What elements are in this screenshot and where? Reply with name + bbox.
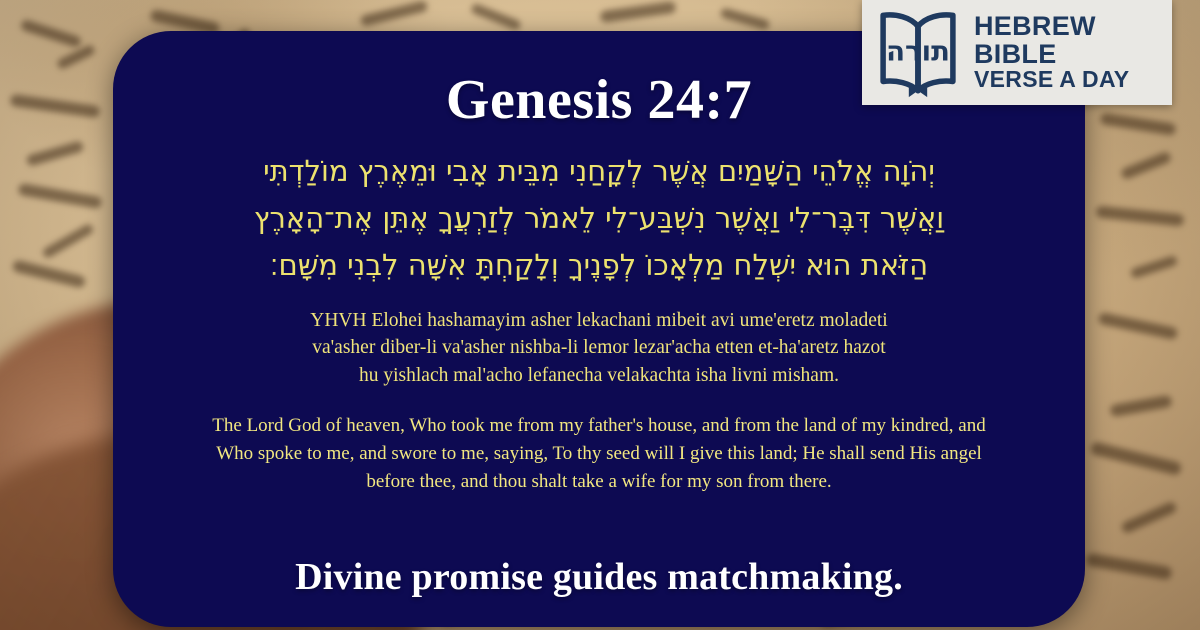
transliteration-line-3: hu yishlach mal'acho lefanecha velakacht… (184, 362, 1014, 390)
brand-logo-text: HEBREW BIBLE VERSE A DAY (974, 13, 1129, 92)
brand-line-3: VERSE A DAY (974, 68, 1129, 92)
verse-tagline: Divine promise guides matchmaking. (113, 555, 1085, 599)
hebrew-verse-text: יְהֹוָה אֱלֹהֵי הַשָּׁמַיִם אֲשֶׁר לְקָח… (152, 148, 1047, 289)
hebrew-line-3: הַזֹּאת הוּא יִשְׁלַח מַלְאָכוֹ לְפָנֶיך… (152, 242, 1047, 289)
hebrew-line-2: וַאֲשֶׁר דִּבֶּר־לִי וַאֲשֶׁר נִשְׁבַּע־… (152, 195, 1047, 242)
verse-reference: Genesis 24:7 (446, 71, 752, 130)
transliteration-line-2: va'asher diber-li va'asher nishba-li lem… (184, 334, 1014, 362)
english-translation: The Lord God of heaven, Who took me from… (204, 412, 994, 496)
transliteration-text: YHVH Elohei hashamayim asher lekachani m… (184, 307, 1014, 390)
brand-line-1: HEBREW (974, 13, 1129, 41)
brand-logo: תורה HEBREW BIBLE VERSE A DAY (862, 0, 1172, 105)
hebrew-line-1: יְהֹוָה אֱלֹהֵי הַשָּׁמַיִם אֲשֶׁר לְקָח… (152, 148, 1047, 195)
open-book-torah-icon: תורה (872, 8, 964, 98)
logo-hebrew-word: תורה (886, 35, 950, 67)
transliteration-line-1: YHVH Elohei hashamayim asher lekachani m… (184, 307, 1014, 335)
verse-card: Genesis 24:7 יְהֹוָה אֱלֹהֵי הַשָּׁמַיִם… (113, 31, 1085, 627)
verse-image-canvas: Genesis 24:7 יְהֹוָה אֱלֹהֵי הַשָּׁמַיִם… (0, 0, 1200, 630)
brand-line-2: BIBLE (974, 41, 1129, 69)
